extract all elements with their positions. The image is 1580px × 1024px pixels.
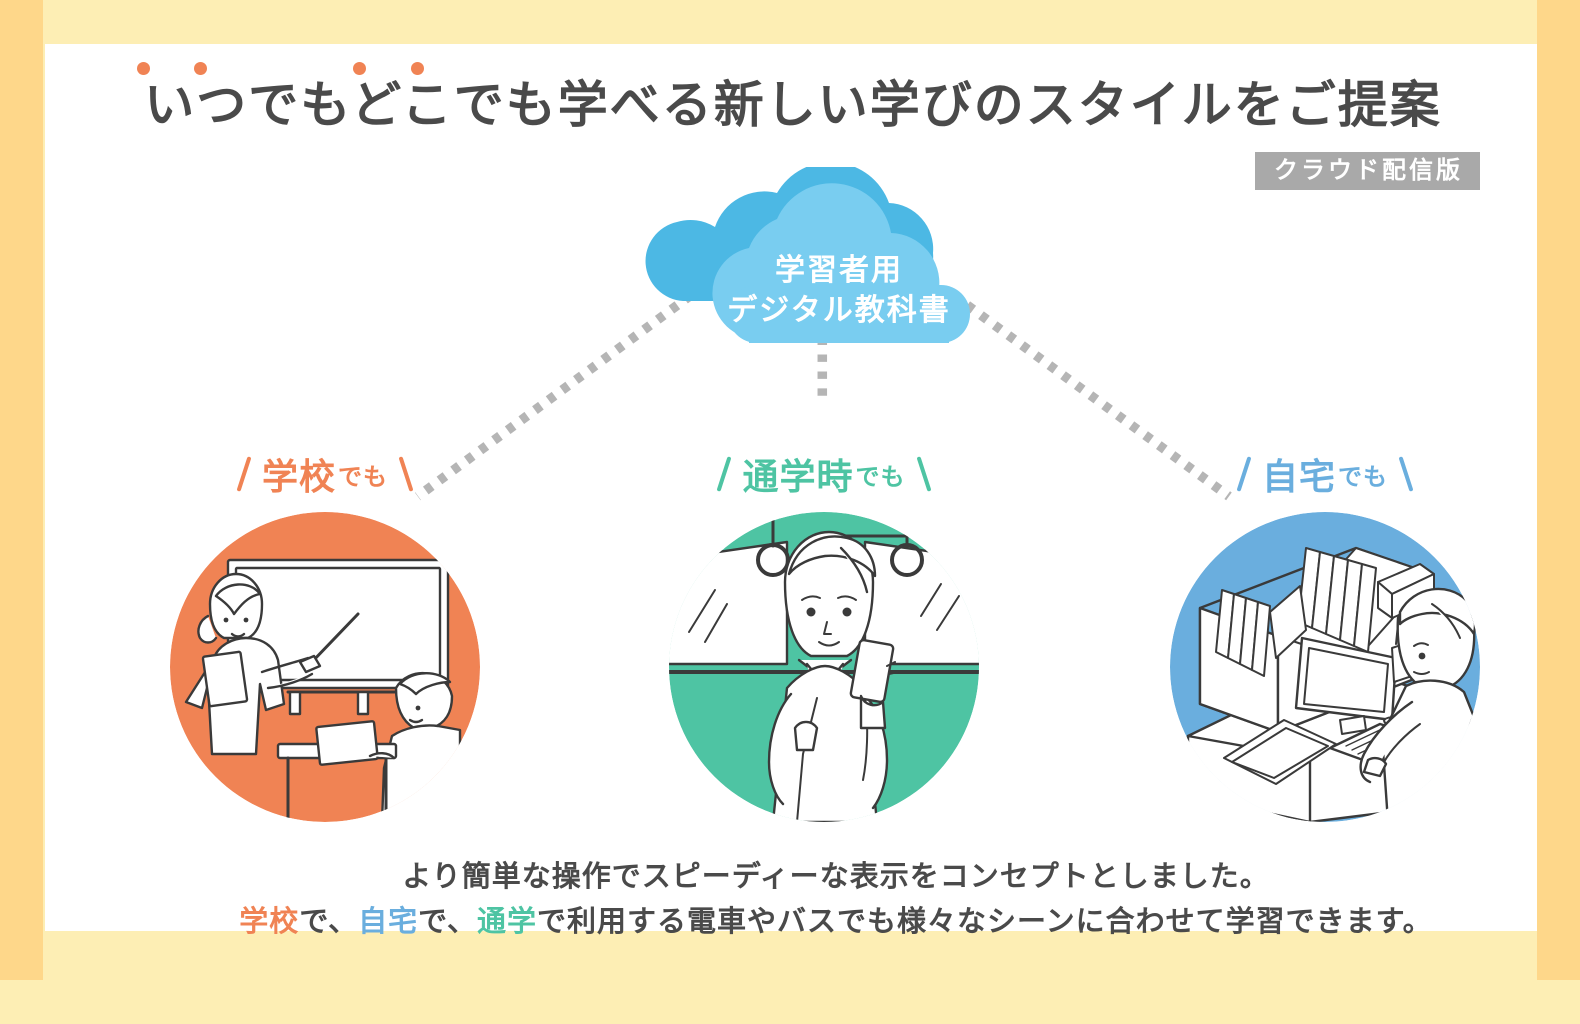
scene-illustration-home (1170, 512, 1480, 822)
infographic-page: いつでもどこでも学べる新しい学びのスタイルをご提案 クラウド配信版 学習者用 デ… (0, 0, 1580, 980)
caption-tail: で利用する電車やバスでも様々なシーンに合わせて学習できます。 (537, 904, 1433, 938)
emphasis-dot (411, 62, 424, 75)
scene-label-kanji: 通学時 (742, 457, 853, 498)
train-student-smartphone-icon (669, 512, 979, 822)
page-title: いつでもどこでも学べる新しい学びのスタイルをご提案 (103, 76, 1483, 135)
scene-label-home: 自宅でも (1155, 448, 1495, 502)
home-desk-computer-icon (1170, 512, 1480, 822)
caption-keyword-home: 自宅 (358, 904, 418, 938)
emphasis-dot (353, 62, 366, 75)
caption-keyword-school: 学校 (239, 904, 299, 938)
caption-line-1: より簡単な操作でスピーディーな表示をコンセプトとしました。 (90, 854, 1580, 899)
scene-home: 自宅でも (1155, 448, 1495, 822)
scene-label-suffix: でも (1338, 463, 1388, 491)
scene-illustration-commute (669, 512, 979, 822)
scene-commute: 通学時でも (654, 448, 994, 822)
scene-label-kanji: 学校 (262, 457, 336, 498)
scene-label-kanji: 自宅 (1262, 457, 1336, 498)
slash-right-icon (1399, 456, 1414, 491)
cloud-label: 学習者用 デジタル教科書 (605, 251, 1025, 331)
status-badge: クラウド配信版 (1255, 152, 1480, 190)
scene-school: 学校でも (155, 448, 495, 822)
emphasis-dot (137, 62, 150, 75)
caption-keyword-commute: 通学 (477, 904, 537, 938)
content-card: いつでもどこでも学べる新しい学びのスタイルをご提案 クラウド配信版 学習者用 デ… (45, 44, 1537, 931)
caption-separator-1: で、 (299, 904, 358, 938)
slash-left-icon (1237, 456, 1252, 491)
caption-separator-2: で、 (418, 904, 477, 938)
slash-right-icon (916, 456, 931, 491)
scene-label-school: 学校でも (155, 448, 495, 502)
cloud-badge: 学習者用 デジタル教科書 (605, 167, 1025, 397)
scene-label-suffix: でも (338, 463, 388, 491)
cloud-label-line1: 学習者用 (653, 251, 1025, 291)
slash-right-icon (399, 456, 414, 491)
scene-illustration-school (170, 512, 480, 822)
scene-label-commute: 通学時でも (654, 448, 994, 502)
emphasis-dot (194, 62, 207, 75)
left-edge-strip (0, 0, 43, 980)
caption-block: より簡単な操作でスピーディーな表示をコンセプトとしました。 学校で、自宅で、通学… (90, 854, 1580, 944)
cloud-label-line2: デジタル教科書 (653, 291, 1025, 331)
scene-label-suffix: でも (856, 463, 906, 491)
classroom-teacher-whiteboard-icon (170, 512, 480, 822)
right-edge-strip (1537, 0, 1580, 980)
caption-line-2: 学校で、自宅で、通学で利用する電車やバスでも様々なシーンに合わせて学習できます。 (90, 899, 1580, 944)
page-title-block: いつでもどこでも学べる新しい学びのスタイルをご提案 (103, 76, 1483, 135)
slash-left-icon (237, 456, 252, 491)
slash-left-icon (717, 456, 732, 491)
